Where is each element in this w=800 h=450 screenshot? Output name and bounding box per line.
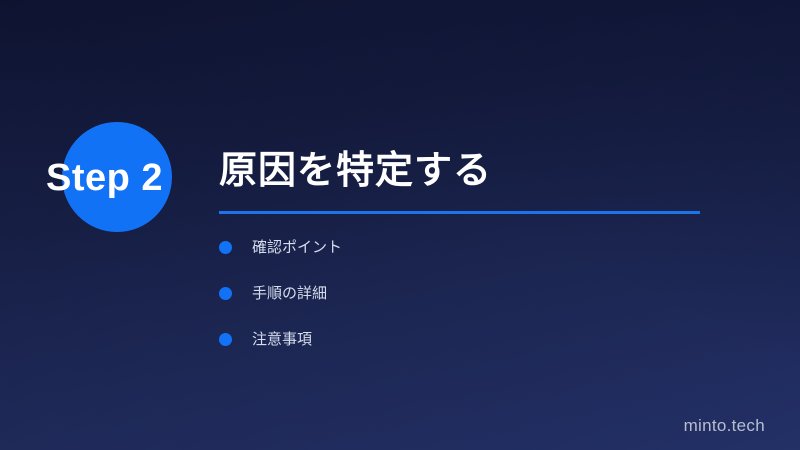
list-item-label: 確認ポイント xyxy=(252,234,342,261)
bullet-dot-icon xyxy=(219,241,232,254)
list-item: 注意事項 xyxy=(219,326,342,353)
presentation-slide: Step 2 原因を特定する 確認ポイント 手順の詳細 注意事項 minto.t… xyxy=(0,0,800,450)
list-item-label: 手順の詳細 xyxy=(252,280,327,307)
title-underline-rule xyxy=(219,211,700,214)
step-badge-label: Step 2 xyxy=(46,155,246,201)
list-item: 確認ポイント xyxy=(219,234,342,261)
page-title: 原因を特定する xyxy=(219,147,492,195)
footer-brand-label: minto.tech xyxy=(684,416,765,436)
list-item: 手順の詳細 xyxy=(219,280,342,307)
bullet-list: 確認ポイント 手順の詳細 注意事項 xyxy=(219,234,342,372)
bullet-dot-icon xyxy=(219,333,232,346)
list-item-label: 注意事項 xyxy=(252,326,312,353)
bullet-dot-icon xyxy=(219,287,232,300)
